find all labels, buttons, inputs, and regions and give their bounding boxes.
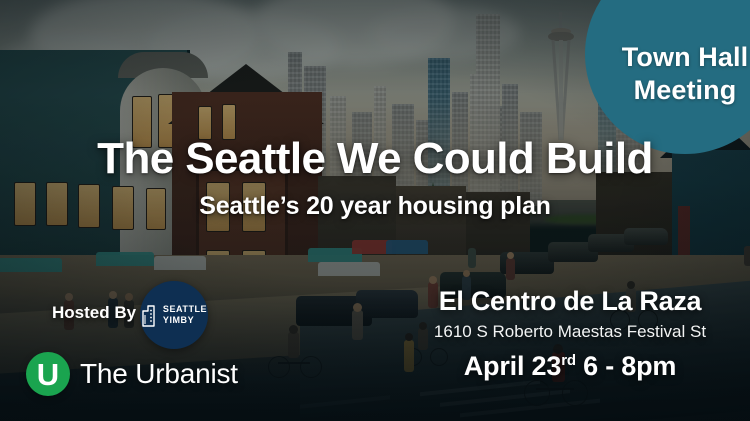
badge-line-1: Town Hall bbox=[622, 41, 748, 74]
town-hall-badge: Town Hall Meeting bbox=[585, 0, 750, 154]
date-ordinal: rd bbox=[561, 352, 576, 369]
seattle-yimby-logo[interactable]: SEATTLE YIMBY bbox=[140, 281, 208, 349]
urbanist-name: The Urbanist bbox=[80, 358, 238, 390]
hosted-by-label: Hosted By bbox=[52, 303, 136, 323]
building-outline-icon bbox=[141, 303, 158, 328]
date-main: April 23 bbox=[464, 351, 561, 381]
event-date-time: April 23rd 6 - 8pm bbox=[400, 351, 740, 382]
venue-address: 1610 S Roberto Maestas Festival St bbox=[400, 322, 740, 342]
yimby-line-1: SEATTLE bbox=[163, 304, 207, 315]
poster-content: Town Hall Meeting The Seattle We Could B… bbox=[0, 0, 750, 421]
date-time: 6 - 8pm bbox=[576, 351, 676, 381]
yimby-wordmark: SEATTLE YIMBY bbox=[163, 304, 207, 326]
urbanist-mark-letter: U bbox=[37, 359, 59, 390]
event-poster: Town Hall Meeting The Seattle We Could B… bbox=[0, 0, 750, 421]
the-urbanist-logo[interactable]: U The Urbanist bbox=[26, 352, 238, 396]
yimby-line-2: YIMBY bbox=[163, 315, 207, 326]
page-subtitle: Seattle’s 20 year housing plan bbox=[0, 192, 750, 221]
page-title: The Seattle We Could Build bbox=[0, 134, 750, 184]
urbanist-u-icon: U bbox=[26, 352, 70, 396]
badge-line-2: Meeting bbox=[634, 74, 737, 107]
venue-details: El Centro de La Raza 1610 S Roberto Maes… bbox=[400, 286, 740, 382]
venue-name: El Centro de La Raza bbox=[400, 286, 740, 317]
